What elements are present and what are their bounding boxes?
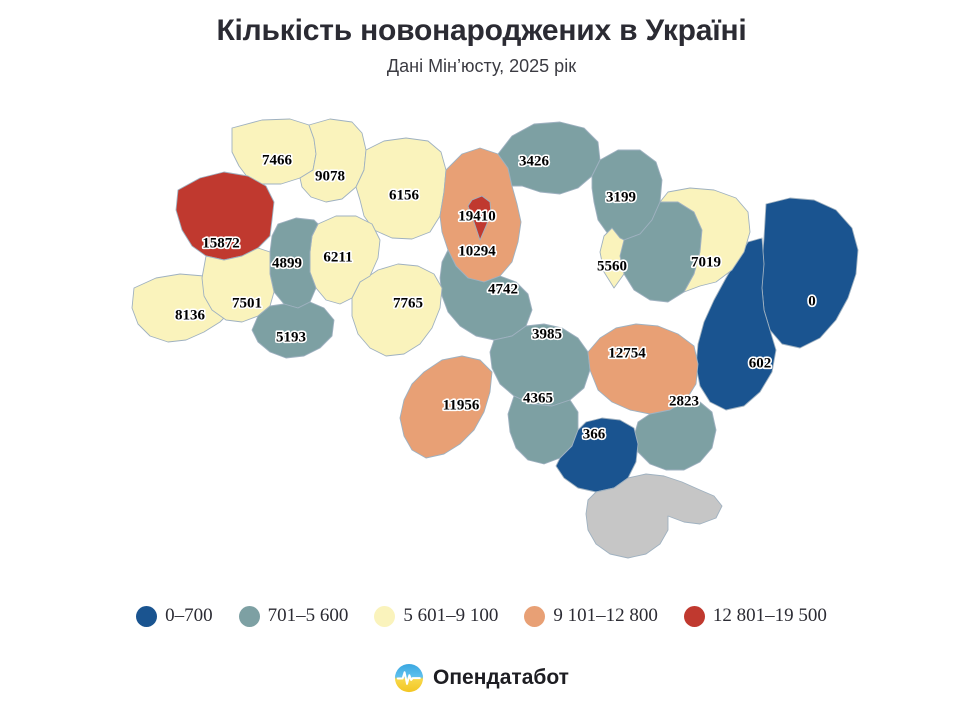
region-value-label: 6156 xyxy=(389,187,420,203)
infographic-page: Кількість новонароджених в Україні Дані … xyxy=(0,0,963,705)
page-subtitle: Дані Мін’юсту, 2025 рік xyxy=(0,56,963,77)
legend-item: 12 801–19 500 xyxy=(684,605,827,627)
region-value-label: 9078 xyxy=(315,168,345,184)
region-value-label: 11956 xyxy=(443,397,480,413)
region-value-label: 602 xyxy=(749,355,772,371)
ukraine-choropleth-map: 7466907861561941010294342631995560060270… xyxy=(0,92,963,587)
region-value-label: 3199 xyxy=(606,189,636,205)
legend-swatch xyxy=(524,606,545,627)
region-value-label: 5560 xyxy=(597,258,627,274)
legend-label: 12 801–19 500 xyxy=(713,605,827,627)
region-value-label: 10294 xyxy=(458,243,496,259)
region-value-label: 2823 xyxy=(669,393,699,409)
legend-label: 0–700 xyxy=(165,605,213,627)
region-value-label: 366 xyxy=(583,426,606,442)
page-title: Кількість новонароджених в Україні xyxy=(0,14,963,49)
legend-label: 9 101–12 800 xyxy=(553,605,658,627)
legend-item: 701–5 600 xyxy=(239,605,349,627)
map-region[interactable] xyxy=(498,122,600,194)
legend-item: 9 101–12 800 xyxy=(524,605,658,627)
region-value-label: 0 xyxy=(808,293,816,309)
footer-brand: Опендатабот xyxy=(0,663,963,693)
region-value-label: 4742 xyxy=(488,281,518,297)
region-value-label: 4365 xyxy=(523,390,553,406)
region-value-label: 7466 xyxy=(262,152,293,168)
region-value-label: 3985 xyxy=(532,326,562,342)
opendatabot-logo-icon xyxy=(394,663,424,693)
region-value-label: 15872 xyxy=(202,235,240,251)
region-value-label: 19410 xyxy=(458,208,496,224)
region-value-label: 7019 xyxy=(691,254,721,270)
map-region[interactable] xyxy=(762,198,858,348)
map-legend: 0–700701–5 6005 601–9 1009 101–12 80012 … xyxy=(0,605,963,627)
legend-label: 701–5 600 xyxy=(268,605,349,627)
region-value-label: 6211 xyxy=(323,249,352,265)
legend-swatch xyxy=(136,606,157,627)
legend-swatch xyxy=(684,606,705,627)
map-regions-group xyxy=(132,119,858,558)
legend-swatch xyxy=(374,606,395,627)
legend-item: 5 601–9 100 xyxy=(374,605,498,627)
region-value-label: 5193 xyxy=(276,329,306,345)
legend-label: 5 601–9 100 xyxy=(403,605,498,627)
region-value-label: 8136 xyxy=(175,307,206,323)
region-value-label: 4899 xyxy=(272,255,302,271)
region-value-label: 12754 xyxy=(608,345,646,361)
region-value-label: 3426 xyxy=(519,153,550,169)
legend-swatch xyxy=(239,606,260,627)
region-value-label: 7765 xyxy=(393,295,423,311)
map-svg: 7466907861561941010294342631995560060270… xyxy=(0,92,963,587)
region-value-label: 7501 xyxy=(232,295,262,311)
legend-item: 0–700 xyxy=(136,605,213,627)
brand-name: Опендатабот xyxy=(433,666,569,690)
header: Кількість новонароджених в Україні Дані … xyxy=(0,0,963,76)
